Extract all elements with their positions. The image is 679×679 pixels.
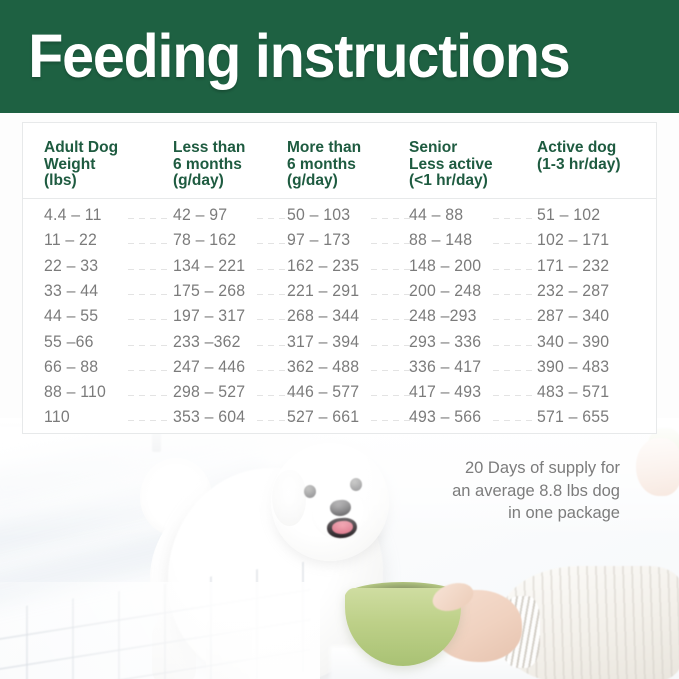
leader-dash xyxy=(493,345,499,346)
leader-dash xyxy=(526,370,532,371)
column-header-adult-dog-weight: Adult Dog Weight (lbs) xyxy=(44,140,118,190)
leader-dash xyxy=(268,294,274,295)
cell-active-dog: 51 – 102 xyxy=(537,206,600,225)
cell-adult-dog-weight: 22 – 33 xyxy=(44,257,98,276)
cell-active-dog: 171 – 232 xyxy=(537,257,609,276)
cell-senior-less-active: 417 – 493 xyxy=(409,383,481,402)
leader-dash xyxy=(150,294,156,295)
table-header-row: Adult Dog Weight (lbs)Less than 6 months… xyxy=(23,123,656,199)
cell-senior-less-active: 248 –293 xyxy=(409,307,477,326)
leader-dash xyxy=(161,319,167,320)
cell-adult-dog-weight: 11 – 22 xyxy=(44,231,97,250)
leader-dash xyxy=(493,218,499,219)
floor-tiles-fade xyxy=(0,582,320,679)
leader-dash xyxy=(504,294,510,295)
leader-dash xyxy=(493,319,499,320)
cell-active-dog: 390 – 483 xyxy=(537,358,609,377)
leader-dash xyxy=(382,294,388,295)
leader-dash xyxy=(257,319,263,320)
leader-dash xyxy=(515,319,521,320)
table-body: 4.4 – 1142 – 9750 – 10344 – 8851 – 10211… xyxy=(23,199,656,433)
cell-senior-less-active: 200 – 248 xyxy=(409,282,481,301)
cell-less-than-6-months: 197 – 317 xyxy=(173,307,245,326)
cell-adult-dog-weight: 33 – 44 xyxy=(44,282,98,301)
cell-more-than-6-months: 268 – 344 xyxy=(287,307,359,326)
leader-dash xyxy=(268,370,274,371)
leader-dash xyxy=(279,395,285,396)
leader-dash xyxy=(150,345,156,346)
leader-dash xyxy=(257,294,263,295)
cell-adult-dog-weight: 88 – 110 xyxy=(44,383,106,402)
leader-dash xyxy=(139,243,145,244)
leader-dash xyxy=(139,218,145,219)
leader-dash xyxy=(493,370,499,371)
leader-dash xyxy=(128,420,134,421)
cell-active-dog: 102 – 171 xyxy=(537,231,609,250)
leader-dash xyxy=(257,269,263,270)
cell-senior-less-active: 148 – 200 xyxy=(409,257,481,276)
leader-dash xyxy=(150,218,156,219)
leader-dash xyxy=(526,420,532,421)
leader-dash xyxy=(150,395,156,396)
leader-dash xyxy=(150,319,156,320)
leader-dash xyxy=(515,345,521,346)
leader-dash xyxy=(504,395,510,396)
leader-dash xyxy=(382,420,388,421)
leader-dash xyxy=(150,243,156,244)
cell-adult-dog-weight: 44 – 55 xyxy=(44,307,98,326)
page-title: Feeding instructions xyxy=(0,26,570,87)
leader-dash xyxy=(161,243,167,244)
leader-dash xyxy=(161,420,167,421)
leader-dash xyxy=(371,319,377,320)
cell-more-than-6-months: 97 – 173 xyxy=(287,231,350,250)
leader-dash xyxy=(139,319,145,320)
leader-dash xyxy=(128,370,134,371)
leader-dash xyxy=(493,269,499,270)
leader-dash xyxy=(371,218,377,219)
leader-dash xyxy=(526,395,532,396)
leader-dash xyxy=(371,269,377,270)
leader-dash xyxy=(526,243,532,244)
leader-dash xyxy=(161,294,167,295)
leader-dash xyxy=(161,395,167,396)
cell-active-dog: 340 – 390 xyxy=(537,333,609,352)
cell-adult-dog-weight: 4.4 – 11 xyxy=(44,206,102,225)
leader-dash xyxy=(279,319,285,320)
leader-dash xyxy=(268,345,274,346)
leader-dash xyxy=(393,294,399,295)
leader-dash xyxy=(268,218,274,219)
leader-dash xyxy=(161,218,167,219)
leader-dash xyxy=(504,370,510,371)
leader-dash xyxy=(268,395,274,396)
column-header-less-than-6-months: Less than 6 months (g/day) xyxy=(173,140,245,190)
cell-adult-dog-weight: 55 –66 xyxy=(44,333,94,352)
feeding-table: Adult Dog Weight (lbs)Less than 6 months… xyxy=(22,122,657,434)
leader-dash xyxy=(139,269,145,270)
leader-dash xyxy=(371,345,377,346)
leader-dash xyxy=(268,420,274,421)
leader-dash xyxy=(526,218,532,219)
leader-dash xyxy=(393,420,399,421)
leader-dash xyxy=(268,243,274,244)
supply-caption: 20 Days of supply for an average 8.8 lbs… xyxy=(452,457,620,525)
cell-less-than-6-months: 298 – 527 xyxy=(173,383,245,402)
cell-less-than-6-months: 42 – 97 xyxy=(173,206,227,225)
leader-dash xyxy=(268,269,274,270)
leader-dash xyxy=(382,345,388,346)
leader-dash xyxy=(139,395,145,396)
leader-dash xyxy=(279,370,285,371)
leader-dash xyxy=(515,370,521,371)
cell-adult-dog-weight: 66 – 88 xyxy=(44,358,98,377)
cell-senior-less-active: 493 – 566 xyxy=(409,408,481,427)
leader-dash xyxy=(493,395,499,396)
leader-dash xyxy=(382,395,388,396)
leader-dash xyxy=(371,395,377,396)
leader-dash xyxy=(371,370,377,371)
leader-dash xyxy=(382,243,388,244)
cell-more-than-6-months: 527 – 661 xyxy=(287,408,359,427)
cell-more-than-6-months: 446 – 577 xyxy=(287,383,359,402)
leader-dash xyxy=(257,420,263,421)
cell-senior-less-active: 44 – 88 xyxy=(409,206,463,225)
leader-dash xyxy=(371,243,377,244)
cell-more-than-6-months: 362 – 488 xyxy=(287,358,359,377)
column-header-more-than-6-months: More than 6 months (g/day) xyxy=(287,140,361,190)
leader-dash xyxy=(128,218,134,219)
leader-dash xyxy=(382,370,388,371)
leader-dash xyxy=(515,269,521,270)
cell-less-than-6-months: 353 – 604 xyxy=(173,408,245,427)
leader-dash xyxy=(279,294,285,295)
leader-dash xyxy=(128,243,134,244)
leader-dash xyxy=(139,294,145,295)
leader-dash xyxy=(128,269,134,270)
leader-dash xyxy=(526,294,532,295)
leader-dash xyxy=(393,319,399,320)
leader-dash xyxy=(257,395,263,396)
leader-dash xyxy=(279,420,285,421)
leader-dash xyxy=(504,319,510,320)
leader-dash xyxy=(515,294,521,295)
leader-dash xyxy=(279,345,285,346)
leader-dash xyxy=(393,370,399,371)
leader-dash xyxy=(526,319,532,320)
cell-less-than-6-months: 134 – 221 xyxy=(173,257,245,276)
cell-more-than-6-months: 162 – 235 xyxy=(287,257,359,276)
leader-dash xyxy=(526,345,532,346)
leader-dash xyxy=(279,218,285,219)
leader-dash xyxy=(504,345,510,346)
cell-senior-less-active: 336 – 417 xyxy=(409,358,481,377)
leader-dash xyxy=(371,294,377,295)
leader-dash xyxy=(150,420,156,421)
header-banner: Feeding instructions xyxy=(0,0,679,113)
leader-dash xyxy=(393,243,399,244)
cell-less-than-6-months: 78 – 162 xyxy=(173,231,236,250)
leader-dash xyxy=(393,395,399,396)
leader-dash xyxy=(161,345,167,346)
leader-dash xyxy=(128,319,134,320)
leader-dash xyxy=(515,243,521,244)
cell-less-than-6-months: 247 – 446 xyxy=(173,358,245,377)
leader-dash xyxy=(257,370,263,371)
leader-dash xyxy=(279,243,285,244)
leader-dash xyxy=(515,218,521,219)
leader-dash xyxy=(526,269,532,270)
leader-dash xyxy=(268,319,274,320)
leader-dash xyxy=(393,345,399,346)
column-header-senior-less-active: Senior Less active (<1 hr/day) xyxy=(409,140,493,190)
cell-active-dog: 571 – 655 xyxy=(537,408,609,427)
cell-active-dog: 483 – 571 xyxy=(537,383,609,402)
cell-more-than-6-months: 221 – 291 xyxy=(287,282,359,301)
leader-dash xyxy=(382,319,388,320)
leader-dash xyxy=(493,294,499,295)
leader-dash xyxy=(139,345,145,346)
leader-dash xyxy=(257,345,263,346)
leader-dash xyxy=(504,420,510,421)
leader-dash xyxy=(504,269,510,270)
cell-more-than-6-months: 317 – 394 xyxy=(287,333,359,352)
leader-dash xyxy=(504,243,510,244)
leader-dash xyxy=(371,420,377,421)
cell-more-than-6-months: 50 – 103 xyxy=(287,206,350,225)
cell-senior-less-active: 293 – 336 xyxy=(409,333,481,352)
column-header-active-dog: Active dog (1-3 hr/day) xyxy=(537,140,621,173)
leader-dash xyxy=(139,420,145,421)
leader-dash xyxy=(257,243,263,244)
leader-dash xyxy=(279,269,285,270)
cell-active-dog: 232 – 287 xyxy=(537,282,609,301)
leader-dash xyxy=(504,218,510,219)
leader-dash xyxy=(150,370,156,371)
leader-dash xyxy=(393,218,399,219)
leader-dash xyxy=(382,218,388,219)
cell-less-than-6-months: 233 –362 xyxy=(173,333,241,352)
leader-dash xyxy=(515,420,521,421)
leader-dash xyxy=(515,395,521,396)
leader-dash xyxy=(161,269,167,270)
leader-dash xyxy=(493,243,499,244)
leader-dash xyxy=(382,269,388,270)
leader-dash xyxy=(150,269,156,270)
cell-less-than-6-months: 175 – 268 xyxy=(173,282,245,301)
cell-adult-dog-weight: 110 xyxy=(44,408,70,427)
content-area: Adult Dog Weight (lbs)Less than 6 months… xyxy=(0,113,679,679)
leader-dash xyxy=(128,294,134,295)
cell-senior-less-active: 88 – 148 xyxy=(409,231,472,250)
leader-dash xyxy=(161,370,167,371)
leader-dash xyxy=(128,345,134,346)
leader-dash xyxy=(128,395,134,396)
leader-dash xyxy=(493,420,499,421)
leader-dash xyxy=(139,370,145,371)
leader-dash xyxy=(257,218,263,219)
leader-dash xyxy=(393,269,399,270)
cell-active-dog: 287 – 340 xyxy=(537,307,609,326)
